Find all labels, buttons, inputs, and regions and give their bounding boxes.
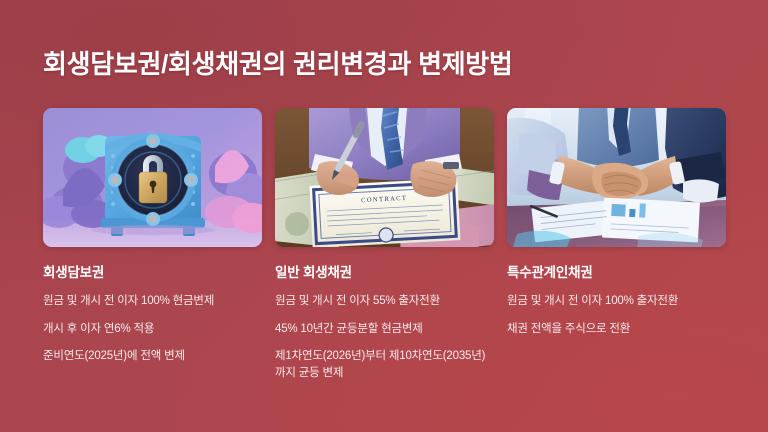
column-2-bullet-1: 원금 및 개시 전 이자 55% 출자전환 [275,293,494,310]
column-3-text: 특수관계인채권 원금 및 개시 전 이자 100% 출자전환 채권 전액을 주식… [507,247,726,337]
column-1-bullet-2: 개시 후 이자 연6% 적용 [43,321,262,338]
column-1-text: 회생담보권 원금 및 개시 전 이자 100% 현금변제 개시 후 이자 연6%… [43,247,262,365]
column-2-bullet-2: 45% 10년간 균등분할 현금변제 [275,321,494,338]
column-3-bullet-2: 채권 전액을 주식으로 전환 [507,321,726,338]
column-3-heading: 특수관계인채권 [507,261,726,281]
column-1-bullet-1: 원금 및 개시 전 이자 100% 현금변제 [43,293,262,310]
slide-canvas: 회생담보권/회생채권의 권리변경과 변제방법 [0,0,768,432]
column-2-text: 일반 회생채권 원금 및 개시 전 이자 55% 출자전환 45% 10년간 균… [275,247,494,382]
column-3-bullet-1: 원금 및 개시 전 이자 100% 출자전환 [507,293,726,310]
column-1-heading: 회생담보권 [43,261,262,281]
vault-with-padlock-illustration [43,108,262,247]
handshake-photo [507,108,726,247]
column-2: CONTRACT [275,108,494,408]
contract-signing-photo: CONTRACT [275,108,494,247]
column-3: 특수관계인채권 원금 및 개시 전 이자 100% 출자전환 채권 전액을 주식… [507,108,726,408]
column-1-bullet-3: 준비연도(2025년)에 전액 변제 [43,348,262,365]
column-1: 회생담보권 원금 및 개시 전 이자 100% 현금변제 개시 후 이자 연6%… [43,108,262,408]
page-title: 회생담보권/회생채권의 권리변경과 변제방법 [43,44,703,81]
column-2-heading: 일반 회생채권 [275,261,494,281]
content-columns: 회생담보권 원금 및 개시 전 이자 100% 현금변제 개시 후 이자 연6%… [43,108,726,408]
column-2-bullet-3: 제1차연도(2026년)부터 제10차연도(2035년)까지 균등 변제 [275,348,494,381]
